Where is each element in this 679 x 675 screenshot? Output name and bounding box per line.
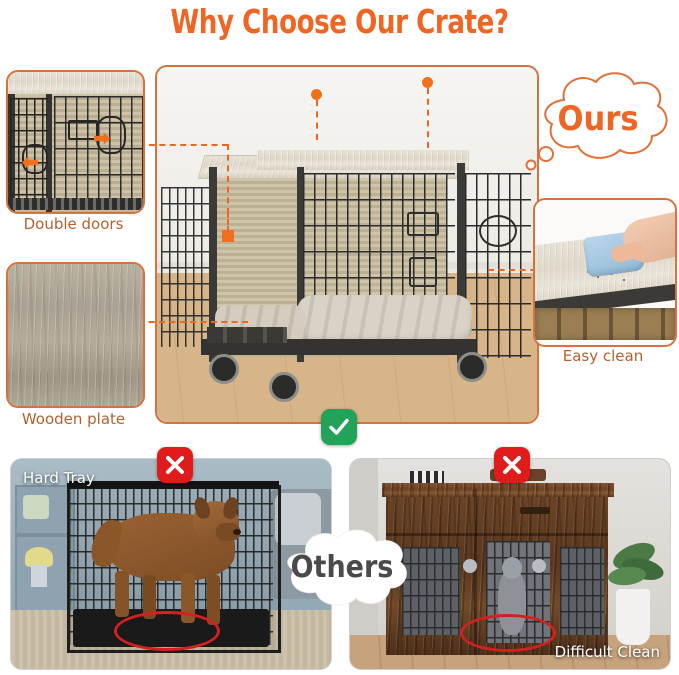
double-doors-photo	[8, 72, 143, 212]
marker-top-right	[422, 77, 433, 88]
easy-clean-photo	[535, 200, 675, 345]
bubble-ours-label: Ours	[520, 99, 676, 139]
marker-top-center	[311, 89, 322, 100]
comparison-tag-difficult-clean: Difficult Clean	[555, 643, 660, 661]
connector-double-doors-v	[227, 144, 229, 214]
bubble-others: Others	[268, 524, 416, 616]
connector-wooden-plate	[128, 321, 248, 323]
dash-top-right	[427, 88, 429, 148]
problem-highlight-difficult-clean	[460, 614, 556, 652]
feature-panel-wooden-plate	[6, 262, 145, 408]
bad-badge-right	[494, 447, 530, 483]
bubble-others-label: Others	[268, 550, 416, 585]
good-badge	[321, 409, 357, 445]
check-icon	[327, 415, 351, 439]
main-product-image	[155, 65, 539, 424]
connector-double-doors-v2	[227, 212, 229, 232]
x-icon	[500, 453, 524, 477]
feature-panel-double-doors	[6, 70, 145, 214]
bad-badge-left	[157, 447, 193, 483]
feature-label-easy-clean: Easy clean	[533, 347, 673, 365]
main-photo-art	[157, 67, 537, 422]
bubble-ours: Ours	[520, 66, 676, 176]
wooden-plate-photo	[8, 264, 143, 406]
comparison-tag-hard-tray: Hard Tray	[23, 469, 95, 487]
dash-top-center	[316, 100, 318, 140]
problem-highlight-hard-tray	[114, 611, 220, 651]
x-icon	[163, 453, 187, 477]
feature-label-wooden-plate: Wooden plate	[0, 410, 147, 428]
feature-label-double-doors: Double doors	[0, 215, 147, 233]
feature-panel-easy-clean	[533, 198, 677, 347]
page-title: Why Choose Our Crate?	[41, 2, 639, 42]
